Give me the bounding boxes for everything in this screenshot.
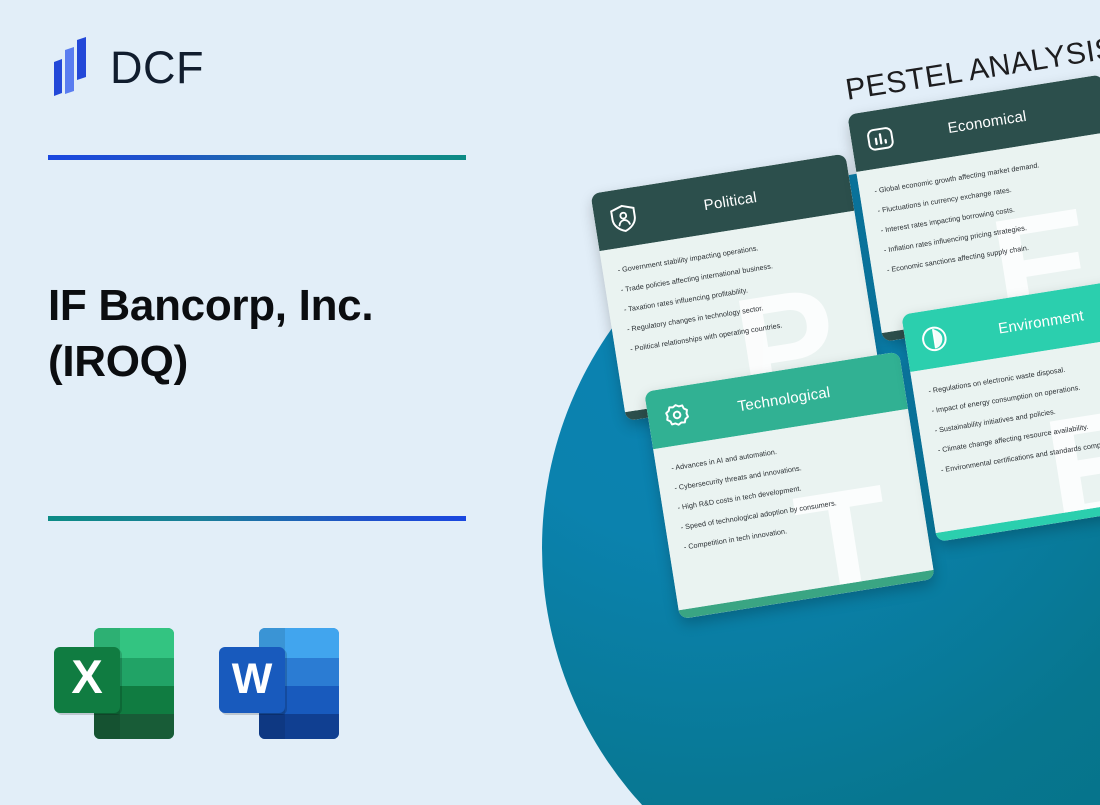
card-bullet-list: Regulations on electronic waste disposal… xyxy=(928,351,1100,475)
brand-name: DCF xyxy=(110,45,204,90)
office-icons-group: X W xyxy=(48,621,346,746)
word-icon[interactable]: W xyxy=(213,621,346,746)
card-title: Environment xyxy=(948,297,1100,345)
card-bullet-list: Government stability impacting operation… xyxy=(617,230,856,354)
list-item: Political relationships with operating c… xyxy=(630,309,857,354)
pestel-card-grid: Political P Government stability impacti… xyxy=(585,73,1100,620)
gear-icon xyxy=(660,399,694,433)
bar-chart-icon xyxy=(863,122,897,156)
card-title: Economical xyxy=(894,97,1094,145)
card-title: Technological xyxy=(691,374,891,422)
divider-bottom xyxy=(48,516,466,521)
pestel-card-environment[interactable]: Environment E Regulations on electronic … xyxy=(901,274,1100,542)
shield-person-icon xyxy=(606,201,640,235)
list-item: Competition in tech innovation. xyxy=(683,507,910,552)
card-bullet-list: Global economic growth affecting market … xyxy=(874,151,1100,275)
svg-text:X: X xyxy=(71,650,102,703)
divider-top xyxy=(48,155,466,160)
excel-icon[interactable]: X xyxy=(48,621,181,746)
card-bullet-list: Advances in AI and automation. Cybersecu… xyxy=(671,428,910,552)
left-panel: DCF IF Bancorp, Inc. (IROQ) xyxy=(0,0,560,805)
brand-logo[interactable]: DCF xyxy=(48,36,204,98)
pestel-card-technological[interactable]: Technological T Advances in AI and autom… xyxy=(644,352,935,620)
leaf-icon xyxy=(917,322,951,356)
pestel-visual: PESTEL ANALYSIS Political P Government s… xyxy=(500,0,1100,805)
svg-text:W: W xyxy=(232,655,273,703)
page-title: IF Bancorp, Inc. (IROQ) xyxy=(48,278,518,391)
card-title: Political xyxy=(637,176,837,224)
slide-canvas: DCF IF Bancorp, Inc. (IROQ) xyxy=(0,0,1100,805)
dcf-bars-logo-icon xyxy=(48,36,94,98)
